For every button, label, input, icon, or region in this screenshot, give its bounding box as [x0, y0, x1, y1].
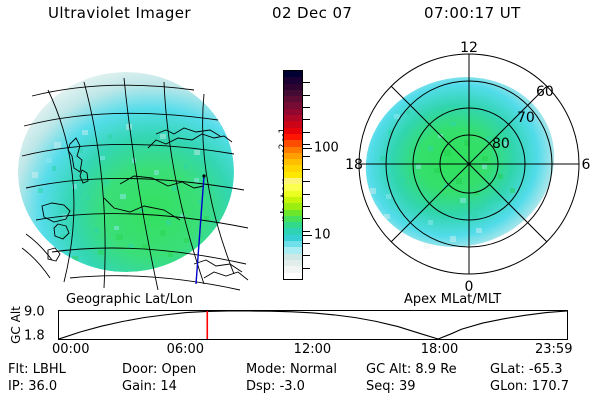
status-glon: GLon: 170.7 — [490, 379, 569, 394]
status-row: Flt: LBHLDoor: OpenMode: NormalGC Alt: 8… — [0, 362, 600, 379]
status-label: Door: — [122, 362, 162, 377]
colorbar-minor-tick — [303, 82, 310, 83]
orbit-xtick-0600: 06:00 — [167, 342, 204, 357]
orbit-altitude-strip: GC Alt 9.0 1.8 00:0006:0012:0018:0023:59 — [0, 308, 600, 360]
mlat-label-70: 70 — [517, 110, 535, 126]
colorbar-group: photon cm-2s-1 100 10 — [262, 52, 348, 298]
instrument-title: Ultraviolet Imager — [48, 4, 191, 22]
status-label: Dsp: — [246, 379, 280, 394]
orbit-xtick-2359: 23:59 — [535, 342, 572, 357]
colorbar-minor-tick — [303, 206, 310, 207]
header: Ultraviolet Imager 02 Dec 07 07:00:17 UT — [0, 4, 600, 30]
status-label: Mode: — [246, 362, 290, 377]
status-label: Seq: — [366, 379, 399, 394]
status-glat: GLat: -65.3 — [490, 362, 563, 377]
apex-image-panel[interactable]: 12 6 0 18 60 70 80 — [340, 38, 598, 296]
status-dsp: Dsp: -3.0 — [246, 379, 305, 394]
status-label: Gain: — [122, 379, 160, 394]
status-label: IP: — [8, 379, 28, 394]
pole-marker — [202, 174, 205, 177]
status-gain: Gain: 14 — [122, 379, 177, 394]
orbit-xtick-1800: 18:00 — [421, 342, 458, 357]
colorbar-minor-tick — [303, 255, 310, 256]
observation-time: 07:00:17 UT — [424, 4, 521, 22]
mlat-label-60: 60 — [536, 84, 554, 100]
status-label: GC Alt: — [366, 362, 415, 377]
colorbar-tick-label-10: 10 — [314, 228, 331, 243]
geographic-plot — [8, 38, 266, 296]
colorbar-minor-tick — [303, 268, 310, 269]
orbit-xtick-1200: 12:00 — [294, 342, 331, 357]
colorbar-minor-tick — [303, 119, 310, 120]
status-label: GLon: — [490, 379, 532, 394]
colorbar-gradient — [284, 71, 302, 279]
colorbar-minor-tick — [303, 156, 310, 157]
status-ip: IP: 36.0 — [8, 379, 57, 394]
status-value: -65.3 — [529, 362, 563, 377]
geographic-image-panel[interactable] — [8, 38, 266, 296]
colorbar-major-tick-100 — [303, 148, 312, 149]
status-label: Flt: — [8, 362, 33, 377]
orbit-altitude-plot[interactable] — [58, 310, 568, 340]
status-label: GLat: — [490, 362, 529, 377]
status-value: LBHL — [33, 362, 66, 377]
colorbar-major-tick-10 — [303, 235, 312, 236]
colorbar-minor-tick — [303, 95, 310, 96]
orbit-xtick-0000: 00:00 — [52, 342, 89, 357]
colorbar-scale[interactable] — [283, 70, 303, 280]
status-value: -3.0 — [280, 379, 305, 394]
colorbar-minor-tick — [303, 107, 310, 108]
mlt-label-18: 18 — [345, 157, 363, 173]
colorbar-minor-tick — [303, 194, 310, 195]
status-row: IP: 36.0Gain: 14Dsp: -3.0Seq: 39GLon: 17… — [0, 379, 600, 396]
status-seq: Seq: 39 — [366, 379, 416, 394]
colorbar-minor-tick — [303, 218, 310, 219]
status-gc-alt: GC Alt: 8.9 Re — [366, 362, 457, 377]
status-value: 170.7 — [532, 379, 569, 394]
apex-plot: 12 6 0 18 60 70 80 — [340, 38, 598, 296]
status-door: Door: Open — [122, 362, 196, 377]
mlt-label-12: 12 — [460, 40, 478, 56]
status-flt: Flt: LBHL — [8, 362, 66, 377]
aurora-emission-geographic — [18, 72, 234, 272]
observation-date: 02 Dec 07 — [272, 4, 352, 22]
colorbar-minor-tick — [303, 243, 310, 244]
colorbar-minor-tick — [303, 169, 310, 170]
colorbar-band-32 — [284, 273, 302, 279]
colorbar-minor-tick — [303, 132, 310, 133]
status-value: 39 — [399, 379, 416, 394]
status-value: 8.9 Re — [415, 362, 456, 377]
mlat-label-80: 80 — [492, 136, 510, 152]
colorbar-minor-tick — [303, 144, 310, 145]
status-value: 36.0 — [28, 379, 57, 394]
status-block: Flt: LBHLDoor: OpenMode: NormalGC Alt: 8… — [0, 362, 600, 400]
colorbar-ticks — [303, 70, 310, 280]
mlt-label-6: 6 — [582, 157, 591, 173]
orbit-altitude-curve — [59, 311, 567, 339]
status-value: Open — [162, 362, 197, 377]
colorbar-minor-tick — [303, 181, 310, 182]
status-mode: Mode: Normal — [246, 362, 337, 377]
uvi-display: Ultraviolet Imager 02 Dec 07 07:00:17 UT — [0, 0, 600, 400]
colorbar-tick-label-100: 100 — [314, 141, 339, 156]
status-value: 14 — [160, 379, 177, 394]
colorbar-minor-tick — [303, 231, 310, 232]
status-value: Normal — [290, 362, 337, 377]
altitude-trace — [59, 311, 567, 339]
